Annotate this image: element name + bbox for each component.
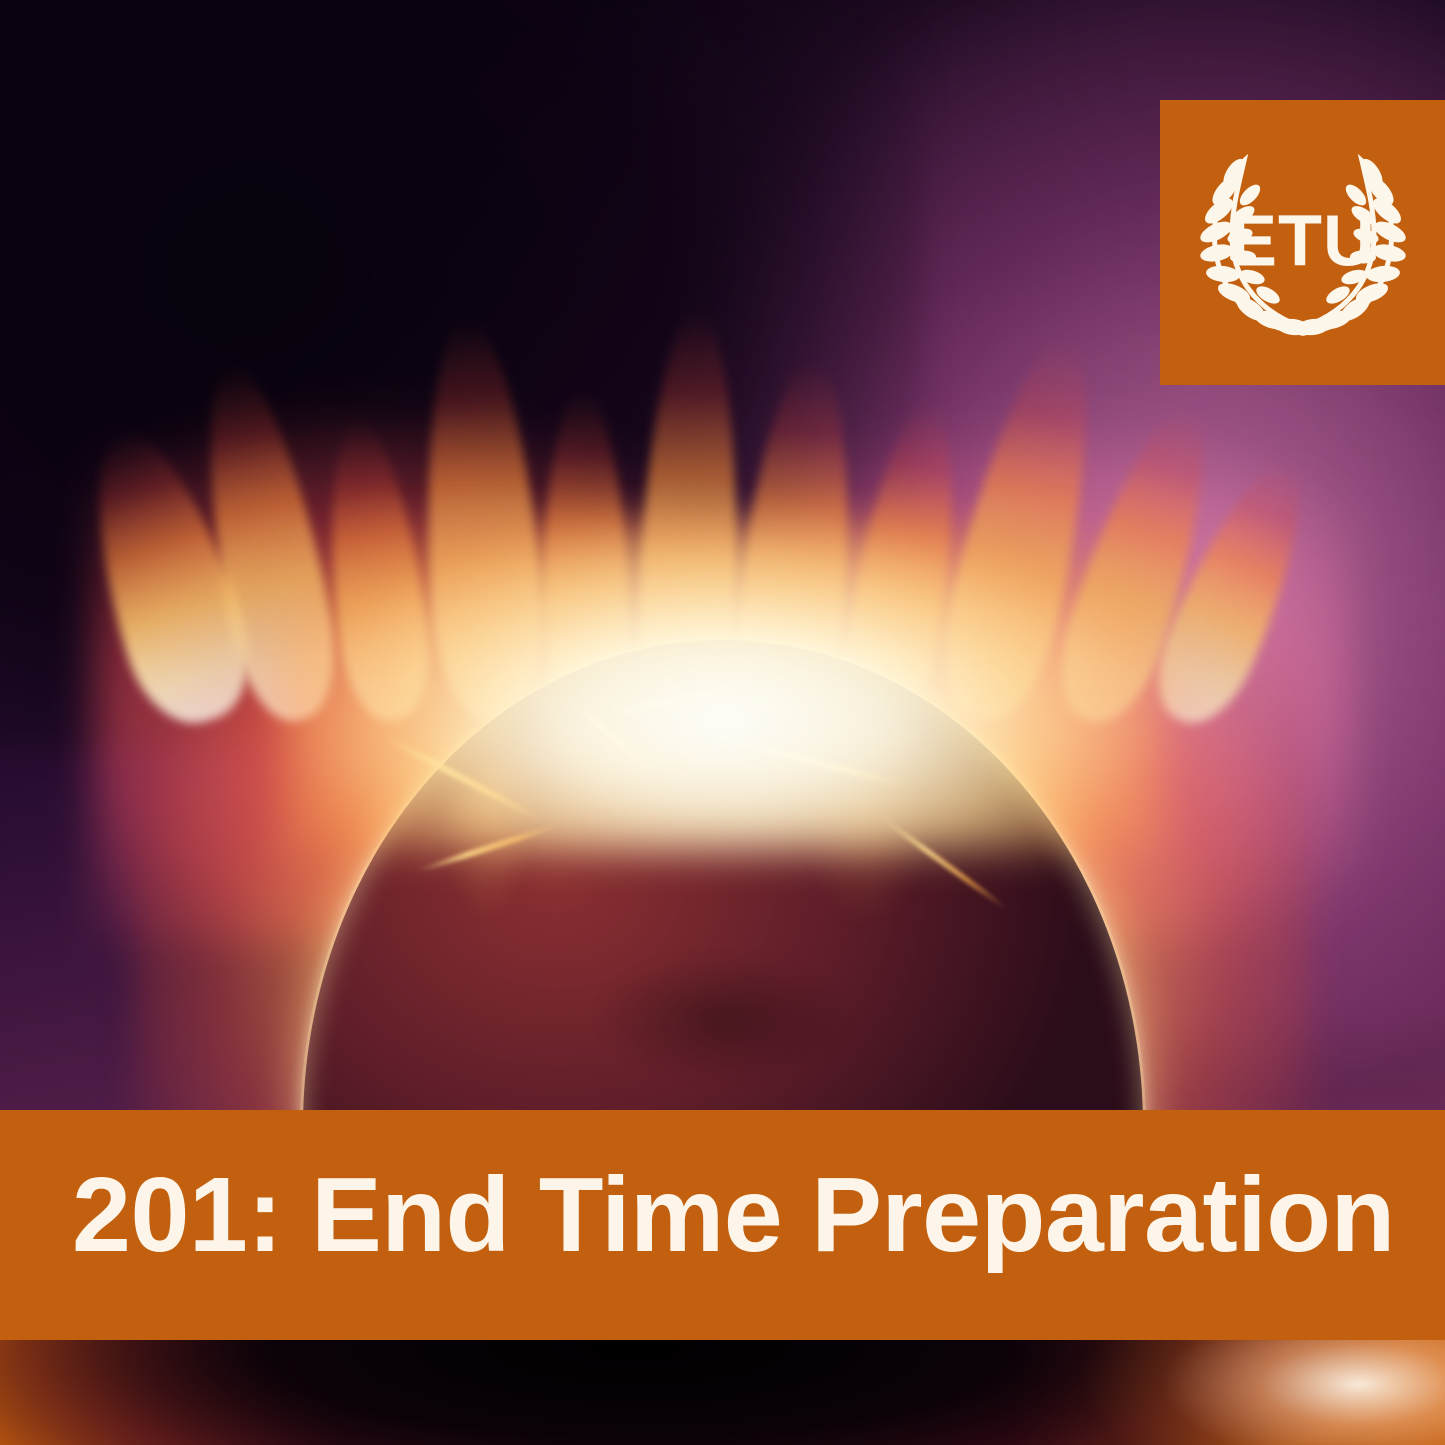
page-title: 201: End Time Preparation (72, 1157, 1395, 1274)
etu-badge: ETU (1160, 100, 1445, 385)
badge-acronym: ETU (1229, 200, 1376, 282)
podcast-cover-art: 201: End Time Preparation (0, 0, 1445, 1445)
bottom-horizon (0, 1340, 1445, 1445)
planet-rim-glow (283, 521, 1163, 851)
